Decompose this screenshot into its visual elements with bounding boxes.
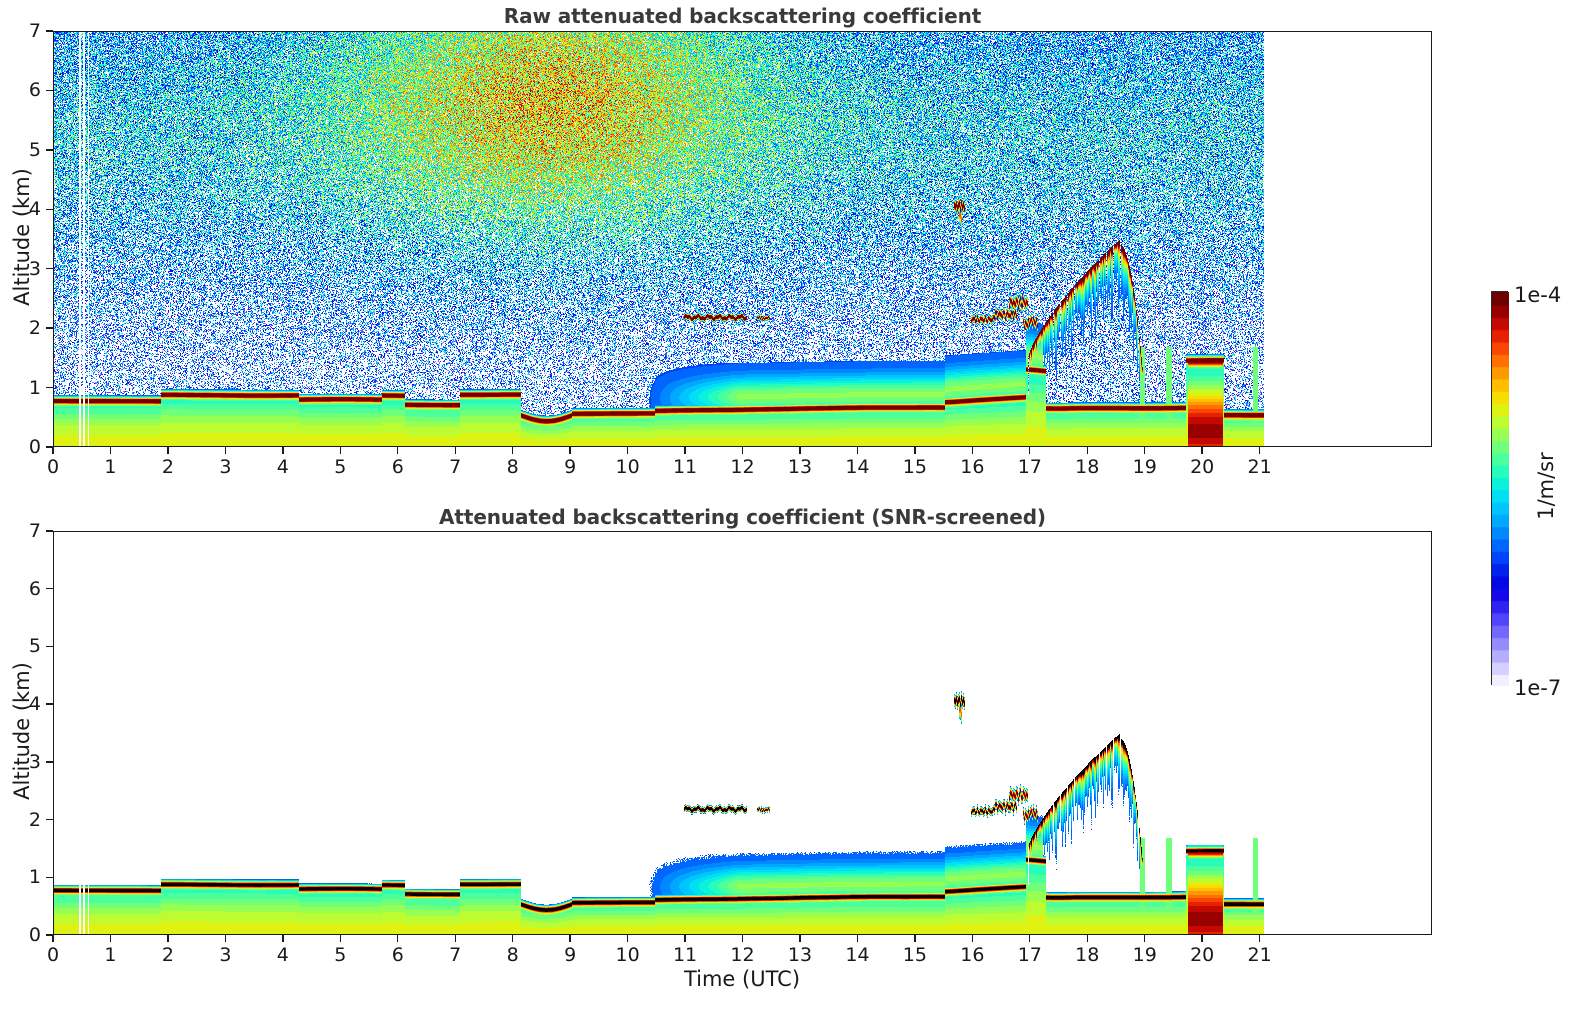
x-tick bbox=[167, 447, 168, 454]
y-tick-label: 1 bbox=[9, 866, 41, 888]
x-tick bbox=[684, 935, 685, 942]
x-tick bbox=[225, 935, 226, 942]
y-tick-label: 5 bbox=[9, 635, 41, 657]
colorbar-gradient bbox=[1492, 292, 1509, 686]
x-tick bbox=[512, 935, 513, 942]
x-tick-label: 10 bbox=[615, 944, 639, 966]
x-tick-label: 5 bbox=[334, 456, 346, 478]
x-tick bbox=[340, 447, 341, 454]
x-tick-label: 1 bbox=[104, 456, 116, 478]
y-tick bbox=[46, 387, 53, 388]
x-tick-label: 3 bbox=[219, 456, 231, 478]
x-tick-label: 0 bbox=[47, 456, 59, 478]
panel-raw-y-axis-label: Altitude (km) bbox=[10, 167, 34, 307]
y-tick-label: 0 bbox=[9, 924, 41, 946]
x-tick-label: 4 bbox=[277, 944, 289, 966]
x-tick-label: 16 bbox=[960, 456, 984, 478]
x-tick bbox=[110, 935, 111, 942]
x-tick bbox=[857, 447, 858, 454]
y-tick-label: 6 bbox=[9, 79, 41, 101]
x-tick bbox=[225, 447, 226, 454]
y-tick-label: 2 bbox=[9, 809, 41, 831]
y-tick-label: 5 bbox=[9, 139, 41, 161]
x-tick-label: 3 bbox=[219, 944, 231, 966]
y-tick bbox=[46, 934, 53, 935]
x-tick bbox=[1029, 447, 1030, 454]
y-tick bbox=[46, 819, 53, 820]
x-tick bbox=[455, 447, 456, 454]
x-tick-label: 2 bbox=[162, 456, 174, 478]
panel-raw-title: Raw attenuated backscattering coefficien… bbox=[53, 4, 1432, 28]
x-tick-label: 5 bbox=[334, 944, 346, 966]
x-tick bbox=[167, 935, 168, 942]
y-tick bbox=[46, 530, 53, 531]
x-tick bbox=[1087, 935, 1088, 942]
x-tick bbox=[627, 935, 628, 942]
y-tick bbox=[46, 327, 53, 328]
x-tick-label: 8 bbox=[507, 944, 519, 966]
x-tick bbox=[742, 447, 743, 454]
colorbar-min-label: 1e-7 bbox=[1514, 676, 1561, 700]
x-tick bbox=[972, 447, 973, 454]
x-tick-label: 19 bbox=[1133, 456, 1157, 478]
y-tick bbox=[46, 446, 53, 447]
y-tick bbox=[46, 209, 53, 210]
x-tick-label: 11 bbox=[673, 456, 697, 478]
y-tick bbox=[46, 646, 53, 647]
x-tick bbox=[569, 447, 570, 454]
x-tick-label: 15 bbox=[903, 944, 927, 966]
x-tick bbox=[1201, 935, 1202, 942]
x-tick bbox=[914, 935, 915, 942]
x-tick bbox=[684, 447, 685, 454]
x-tick-label: 8 bbox=[507, 456, 519, 478]
x-tick bbox=[1201, 447, 1202, 454]
x-tick-label: 7 bbox=[449, 456, 461, 478]
x-tick bbox=[1029, 935, 1030, 942]
y-tick-label: 0 bbox=[9, 436, 41, 458]
x-tick-label: 14 bbox=[845, 944, 869, 966]
x-tick-label: 4 bbox=[277, 456, 289, 478]
x-tick bbox=[914, 447, 915, 454]
y-tick bbox=[46, 703, 53, 704]
x-tick bbox=[742, 935, 743, 942]
x-tick bbox=[282, 447, 283, 454]
x-tick bbox=[282, 935, 283, 942]
y-tick-label: 6 bbox=[9, 578, 41, 600]
panel-screened-y-axis-label: Altitude (km) bbox=[10, 661, 34, 801]
x-tick-label: 13 bbox=[788, 944, 812, 966]
x-tick-label: 18 bbox=[1075, 944, 1099, 966]
x-tick bbox=[1259, 447, 1260, 454]
x-tick-label: 15 bbox=[903, 456, 927, 478]
x-tick-label: 10 bbox=[615, 456, 639, 478]
x-tick-label: 17 bbox=[1018, 944, 1042, 966]
y-tick bbox=[46, 761, 53, 762]
x-tick bbox=[1259, 935, 1260, 942]
x-tick-label: 7 bbox=[449, 944, 461, 966]
x-tick-label: 14 bbox=[845, 456, 869, 478]
x-tick-label: 13 bbox=[788, 456, 812, 478]
x-tick bbox=[799, 447, 800, 454]
x-tick bbox=[627, 447, 628, 454]
y-tick bbox=[46, 90, 53, 91]
y-tick bbox=[46, 588, 53, 589]
x-tick bbox=[512, 447, 513, 454]
colorbar-swatch bbox=[1491, 291, 1508, 685]
x-tick bbox=[455, 935, 456, 942]
x-tick-label: 17 bbox=[1018, 456, 1042, 478]
panel-screened-plot-area bbox=[53, 531, 1432, 935]
y-tick-label: 2 bbox=[9, 317, 41, 339]
panel-raw-plot-area bbox=[53, 31, 1432, 447]
x-tick bbox=[799, 935, 800, 942]
y-tick bbox=[46, 149, 53, 150]
x-tick-label: 19 bbox=[1133, 944, 1157, 966]
x-tick bbox=[857, 935, 858, 942]
x-tick-label: 11 bbox=[673, 944, 697, 966]
x-tick-label: 12 bbox=[730, 944, 754, 966]
x-tick-label: 20 bbox=[1190, 944, 1214, 966]
x-tick bbox=[972, 935, 973, 942]
x-tick-label: 16 bbox=[960, 944, 984, 966]
y-tick-label: 7 bbox=[9, 520, 41, 542]
y-tick-label: 1 bbox=[9, 377, 41, 399]
y-tick-label: 7 bbox=[9, 20, 41, 42]
x-tick-label: 20 bbox=[1190, 456, 1214, 478]
x-tick-label: 1 bbox=[104, 944, 116, 966]
y-tick bbox=[46, 877, 53, 878]
x-tick-label: 6 bbox=[392, 456, 404, 478]
lidar-figure: Raw attenuated backscattering coefficien… bbox=[0, 0, 1595, 1020]
x-tick-label: 21 bbox=[1248, 944, 1272, 966]
colorbar-unit-label: 1/m/sr bbox=[1534, 446, 1558, 526]
panel-raw-heatmap bbox=[54, 32, 1432, 447]
x-tick bbox=[52, 935, 53, 942]
y-tick bbox=[46, 30, 53, 31]
x-tick bbox=[1144, 447, 1145, 454]
panel-screened-heatmap bbox=[54, 532, 1432, 935]
x-tick bbox=[340, 935, 341, 942]
x-tick-label: 21 bbox=[1248, 456, 1272, 478]
y-tick bbox=[46, 268, 53, 269]
x-tick bbox=[397, 447, 398, 454]
x-tick-label: 0 bbox=[47, 944, 59, 966]
x-tick bbox=[52, 447, 53, 454]
x-tick-label: 12 bbox=[730, 456, 754, 478]
x-tick bbox=[1087, 447, 1088, 454]
x-tick bbox=[1144, 935, 1145, 942]
x-tick-label: 9 bbox=[564, 456, 576, 478]
x-tick-label: 2 bbox=[162, 944, 174, 966]
x-tick bbox=[110, 447, 111, 454]
x-tick-label: 18 bbox=[1075, 456, 1099, 478]
x-tick bbox=[397, 935, 398, 942]
colorbar-max-label: 1e-4 bbox=[1514, 283, 1561, 307]
panel-screened-x-axis-label: Time (UTC) bbox=[622, 967, 862, 991]
x-tick-label: 9 bbox=[564, 944, 576, 966]
panel-screened-title: Attenuated backscattering coefficient (S… bbox=[53, 505, 1432, 529]
x-tick bbox=[569, 935, 570, 942]
x-tick-label: 6 bbox=[392, 944, 404, 966]
